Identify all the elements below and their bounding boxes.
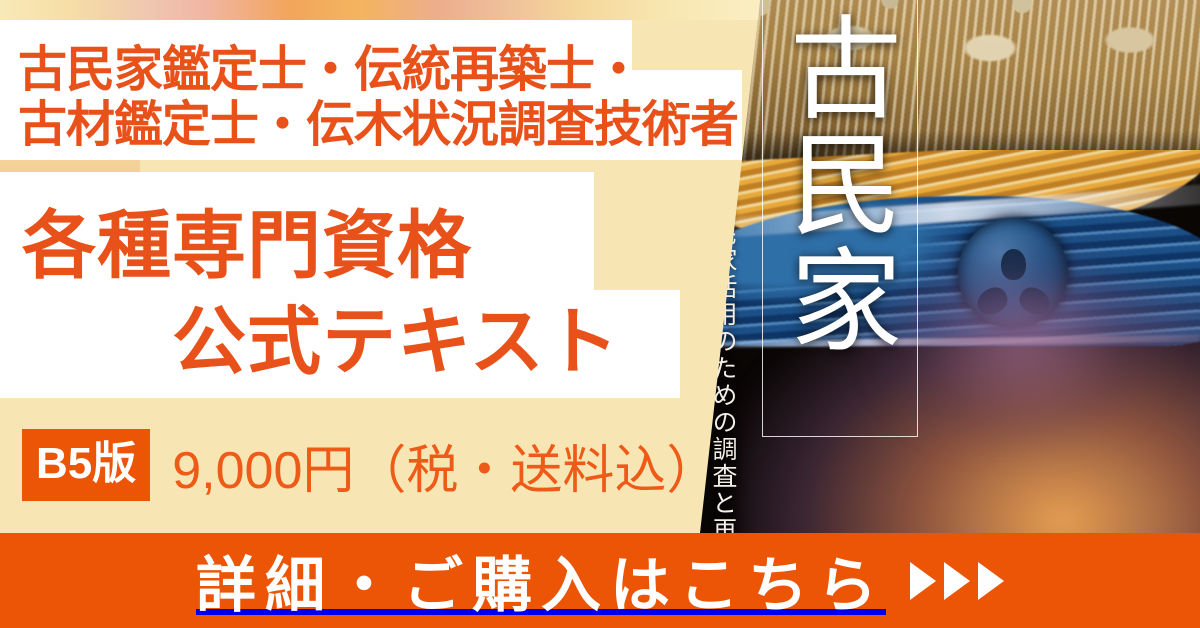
play-arrow-icon — [978, 562, 1004, 600]
size-badge: B5版 — [22, 429, 150, 501]
qualifications-line-2: 古材鑑定士・伝木状況調査技術者 — [18, 85, 738, 156]
play-arrow-icon — [910, 562, 936, 600]
book-cover-image: 伝統構法、古民家活用のための調査と再生の 古民家 — [700, 0, 1200, 533]
play-arrow-icon — [944, 562, 970, 600]
price-text: 9,000円（税・送料込） — [172, 428, 718, 503]
headline-line-1: 各種専門資格 — [22, 186, 472, 293]
promo-banner: 伝統構法、古民家活用のための調査と再生の 古民家 古民家鑑定士・伝統再築士・ 古… — [0, 0, 1200, 628]
headline-line-2: 公式テキスト — [172, 282, 620, 389]
cta-button[interactable]: 詳細・ご購入はこちら — [0, 533, 1200, 628]
cta-label: 詳細・ご購入はこちら — [196, 537, 886, 624]
price-row: B5版 9,000円（税・送料込） — [22, 427, 718, 503]
cta-arrows — [910, 562, 1004, 600]
top-gradient-strip — [0, 0, 760, 20]
cover-title: 古民家 — [778, 10, 898, 358]
